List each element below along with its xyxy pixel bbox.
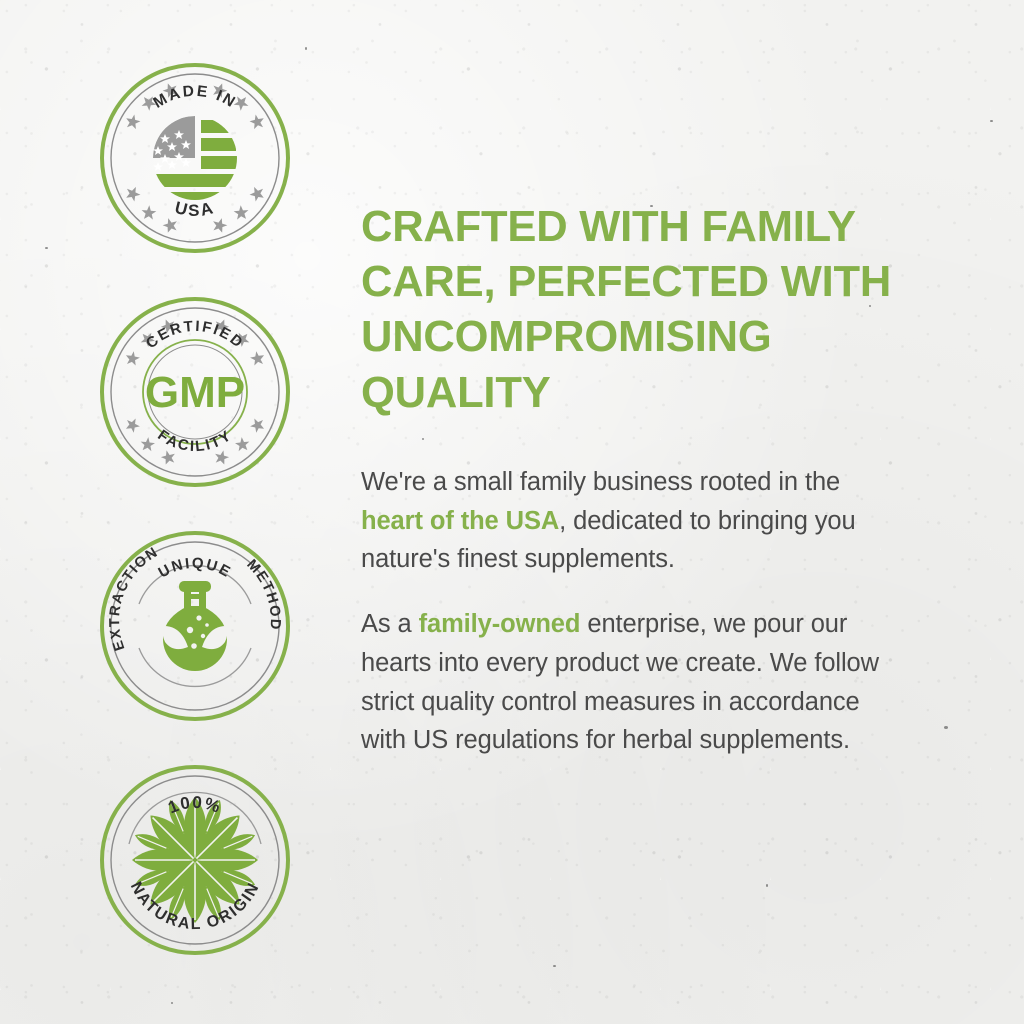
svg-text:UNIQUE: UNIQUE: [156, 555, 235, 582]
badge-left-label: EXTRACTION: [107, 544, 161, 653]
paragraph-one-highlight: heart of the USA: [361, 507, 559, 535]
svg-text:EXTRACTION: EXTRACTION: [107, 544, 161, 653]
badge-right-label: METHOD: [243, 557, 283, 632]
paper-fleck: [990, 120, 993, 122]
usa-flag-circle-icon: [153, 116, 237, 205]
flask-leaf-icon: [163, 581, 228, 671]
svg-text:MADE IN: MADE IN: [151, 83, 240, 112]
paper-fleck: [171, 1002, 173, 1004]
badge-top-label: CERTIFIED: [143, 318, 247, 352]
svg-text:CERTIFIED: CERTIFIED: [143, 318, 247, 352]
page-title: CRAFTED WITH FAMILY CARE, PERFECTED WITH…: [361, 200, 917, 421]
badge-natural-origin: 100% NATURAL ORIGIN: [95, 760, 295, 960]
paragraph-two: As a family-owned enterprise, we pour ou…: [361, 605, 891, 760]
paper-fleck: [944, 726, 948, 729]
paragraph-one: We're a small family business rooted in …: [361, 463, 891, 579]
paragraph-two-highlight: family-owned: [419, 610, 581, 638]
paragraph-two-part-one: As a: [361, 610, 419, 638]
badge-gmp-certified-facility: GMP CERTIFIED FACILITY: [95, 292, 295, 492]
trust-badge-list: MADE IN USA: [95, 58, 300, 994]
paper-fleck: [305, 47, 307, 50]
paragraph-one-part-one: We're a small family business rooted in …: [361, 468, 840, 496]
paper-fleck: [45, 247, 48, 249]
badge-top-label: UNIQUE: [156, 555, 235, 582]
paper-fleck: [553, 965, 556, 967]
promo-banner: MADE IN USA: [0, 0, 1024, 1024]
paper-fleck: [766, 884, 768, 887]
svg-text:METHOD: METHOD: [243, 557, 283, 632]
gmp-text-icon: GMP: [145, 368, 245, 417]
badge-top-label: MADE IN: [151, 83, 240, 112]
badge-made-in-usa: MADE IN USA: [95, 58, 295, 258]
copy-column: CRAFTED WITH FAMILY CARE, PERFECTED WITH…: [361, 200, 921, 760]
badge-bottom-label: USA: [173, 198, 217, 220]
badge-unique-extraction-method: UNIQUE EXTRACTION METHOD: [95, 526, 295, 726]
svg-text:USA: USA: [173, 198, 217, 220]
